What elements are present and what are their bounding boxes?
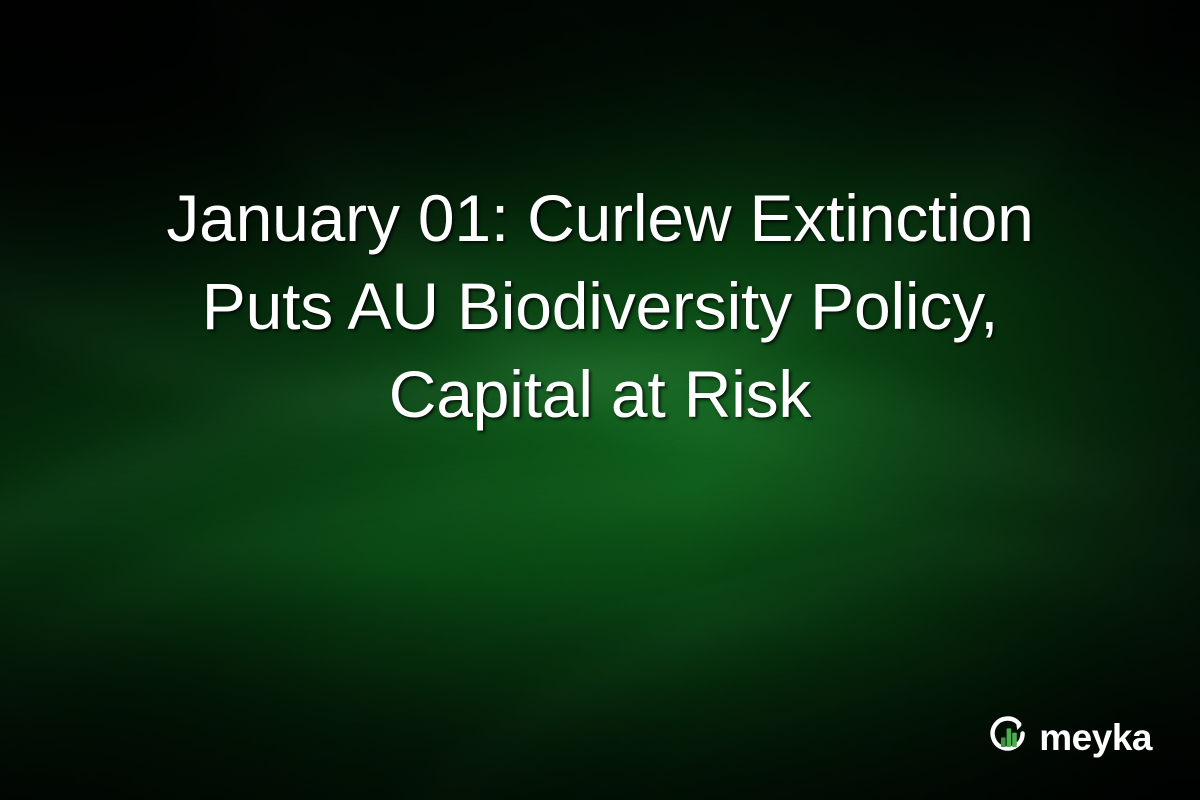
logo-wordmark: meyka	[1039, 719, 1152, 756]
meyka-logo[interactable]: meyka	[986, 714, 1152, 758]
light-streak-5	[0, 566, 933, 757]
light-streak-4	[196, 414, 1200, 709]
headline-title: January 01: Curlew Extinction Puts AU Bi…	[0, 174, 1200, 438]
circular-arrow-bar-chart-icon	[986, 714, 1030, 758]
light-streak-6	[370, 529, 1200, 800]
news-share-card: January 01: Curlew Extinction Puts AU Bi…	[0, 0, 1200, 800]
